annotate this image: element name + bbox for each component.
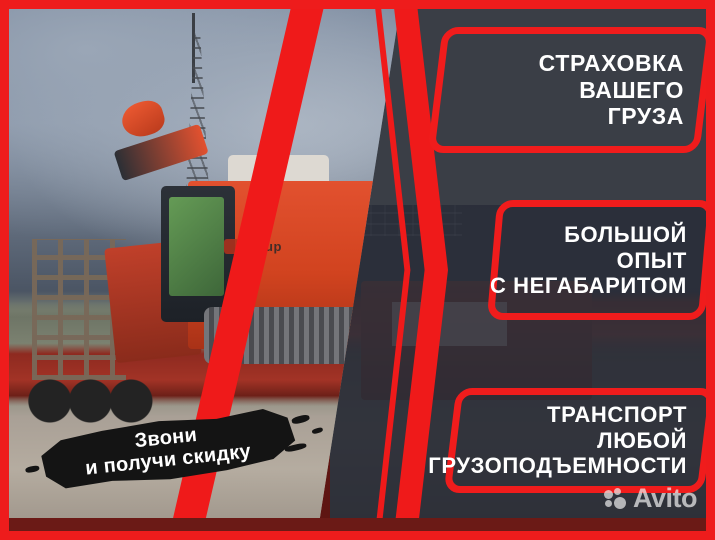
capacity-line-1: ТРАНСПОРТ: [547, 402, 687, 428]
experience-line-3: С НЕГАБАРИТОМ: [490, 273, 687, 299]
feature-box-insurance: СТРАХОВКА ВАШЕГО ГРУЗА: [427, 27, 714, 153]
rig-cab-glass: [169, 197, 224, 297]
insurance-line-2: ВАШЕГО: [579, 77, 684, 104]
rig-drum: [118, 97, 168, 141]
bottom-color-band: [0, 518, 715, 540]
feature-box-experience: БОЛЬШОЙ ОПЫТ С НЕГАБАРИТОМ: [487, 200, 715, 320]
capacity-line-2: ЛЮБОЙ: [597, 428, 687, 454]
capacity-line-3: ГРУЗОПОДЪЕМНОСТИ: [428, 453, 687, 479]
experience-line-2: ОПЫТ: [617, 247, 687, 273]
avito-watermark: Avito: [604, 483, 697, 514]
experience-line-1: БОЛЬШОЙ: [564, 222, 687, 248]
advertisement-banner: group СТРАХОВКА ВАШЕГО ГРУЗА БОЛЬШОЙ ОПЫ…: [0, 0, 715, 540]
insurance-line-1: СТРАХОВКА: [539, 50, 684, 77]
avito-dots-icon: [604, 488, 628, 509]
avito-label: Avito: [633, 483, 697, 514]
insurance-line-3: ГРУЗА: [608, 103, 684, 130]
feature-box-capacity: ТРАНСПОРТ ЛЮБОЙ ГРУЗОПОДЪЕМНОСТИ: [444, 388, 715, 493]
